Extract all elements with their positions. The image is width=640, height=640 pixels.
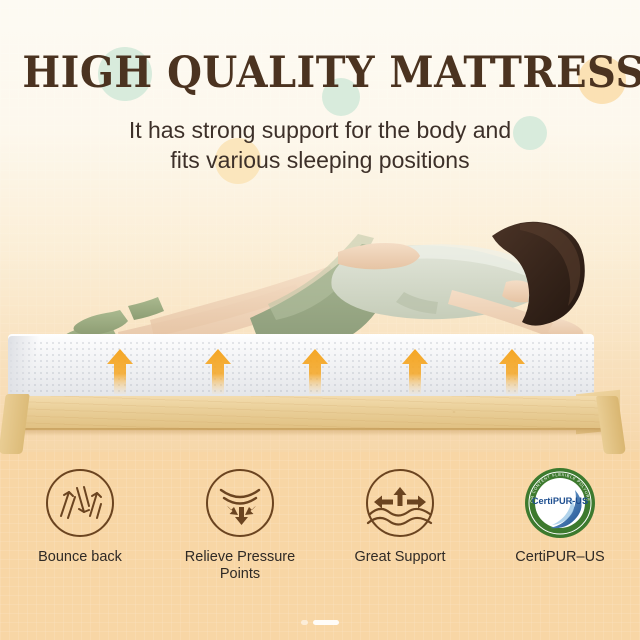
feature-bounce-back[interactable]: Bounce back	[0, 466, 160, 566]
support-arrow	[203, 348, 233, 394]
subtitle-line-1: It has strong support for the body and	[0, 115, 640, 145]
mattress-scene	[0, 200, 640, 460]
page-subtitle: It has strong support for the body and f…	[0, 115, 640, 175]
feature-certipur-us[interactable]: CERTIFIED FOR CONTENT FLEXIBLE POLYURETH…	[480, 466, 640, 566]
bed-leg-left	[0, 394, 30, 454]
certipur-us-badge-icon: CERTIFIED FOR CONTENT FLEXIBLE POLYURETH…	[523, 466, 597, 540]
product-image-slide: HIGH QUALITY MATTRESS It has strong supp…	[0, 0, 640, 640]
feature-row: Bounce back Relieve PressurePoints	[0, 466, 640, 596]
feature-label: Great Support	[354, 549, 445, 566]
feature-label: CertiPUR–US	[515, 549, 604, 566]
bounce-arrows-icon	[43, 466, 117, 540]
carousel-dot-2[interactable]	[313, 620, 339, 625]
support-arrow	[400, 348, 430, 394]
carousel-indicator[interactable]	[0, 617, 640, 627]
great-support-icon	[363, 466, 437, 540]
feature-label: Relieve PressurePoints	[185, 549, 295, 583]
mattress-left-bevel	[8, 336, 42, 402]
badge-brand-text: CertiPUR-US	[532, 496, 588, 506]
carousel-dot-1[interactable]	[301, 620, 308, 625]
support-arrow	[300, 348, 330, 394]
page-title: HIGH QUALITY MATTRESS	[22, 52, 617, 95]
pressure-relief-icon	[203, 466, 277, 540]
support-arrow	[497, 348, 527, 394]
feature-relieve-pressure[interactable]: Relieve PressurePoints	[160, 466, 320, 583]
bed-frame-shadow	[14, 428, 614, 436]
support-arrow	[105, 348, 135, 394]
feature-label: Bounce back	[38, 549, 122, 566]
subtitle-line-2: fits various sleeping positions	[0, 145, 640, 175]
feature-great-support[interactable]: Great Support	[320, 466, 480, 566]
bed-leg-right	[596, 396, 626, 454]
bed-frame-rail	[14, 396, 614, 430]
